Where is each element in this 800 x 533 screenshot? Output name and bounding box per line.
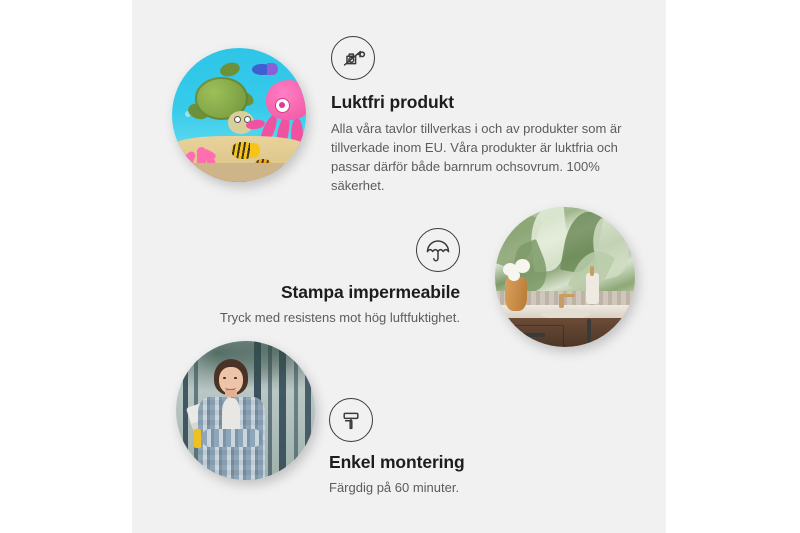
umbrella-icon [416,228,460,272]
drawer-handle [515,333,546,337]
soap-dispenser [586,273,599,304]
octopus-pupil [279,102,285,108]
feature-title: Luktfri produkt [331,92,631,113]
photo-bathroom [495,207,635,347]
vase [505,277,527,311]
feature-odour-free: Luktfri produkt Alla våra tavlor tillver… [331,36,631,195]
feature-description: Tryck med resistens mot hög luftfuktighe… [160,308,460,327]
fish-tail-icon [267,63,278,75]
bathroom-scene [495,207,635,347]
feature-title: Stampa impermeabile [160,282,460,303]
feature-waterproof: Stampa impermeabile Tryck med resistens … [160,228,460,327]
feature-easy-mounting: Enkel montering Färgdig på 60 minuter. [329,398,629,497]
folded-arms [202,429,262,447]
turtle-eye [234,116,241,123]
photo-forest [176,341,315,480]
feature-description: Färgdig på 60 minuter. [329,478,629,497]
paint-roller-icon [329,398,373,442]
underwater-scene [172,48,306,182]
faucet-spout [559,294,574,298]
faucet [559,295,563,308]
cabinet-handle [587,319,591,344]
feature-description: Alla våra tavlor tillverkas i och av pro… [331,119,631,195]
feature-title: Enkel montering [329,452,629,473]
forest-scene [176,341,315,480]
hand-tool [194,429,201,448]
promo-graphic: Luktfri produkt Alla våra tavlor tillver… [0,0,800,533]
soap-pump [590,266,594,276]
photo-underwater [172,48,306,182]
sand-strip [172,163,306,182]
no-perfume-icon [331,36,375,80]
